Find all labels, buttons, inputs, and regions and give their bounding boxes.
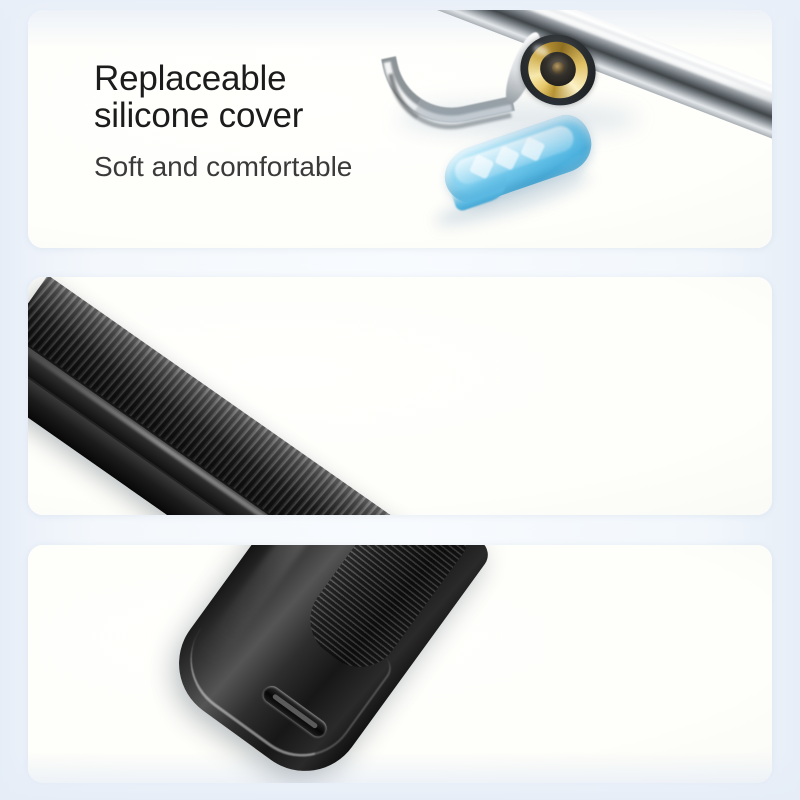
- ribbed-black-body-icon: [28, 277, 572, 515]
- probe-contact-shadow: [398, 102, 638, 136]
- rib-shading: [28, 277, 572, 515]
- product-photo-power-button: [28, 277, 772, 515]
- page-background: Replaceable silicone cover Soft and comf…: [0, 0, 800, 800]
- headline-silicone-cover: Replaceable silicone cover: [94, 60, 352, 135]
- product-photo-type-c-charge: [28, 545, 772, 783]
- feature-card-silicone-cover: Replaceable silicone cover Soft and comf…: [28, 10, 772, 248]
- feature-card-type-c-charge: Type-C Charge About 60 days of battery l…: [28, 545, 772, 783]
- black-device-end-icon: [156, 545, 494, 783]
- feature-card-one-touch-start: One-touch start easy to use: [28, 277, 772, 515]
- lens-pupil-icon: [552, 62, 565, 74]
- feature-text-silicone-cover: Replaceable silicone cover Soft and comf…: [94, 60, 352, 182]
- subline-silicone-cover: Soft and comfortable: [94, 151, 352, 182]
